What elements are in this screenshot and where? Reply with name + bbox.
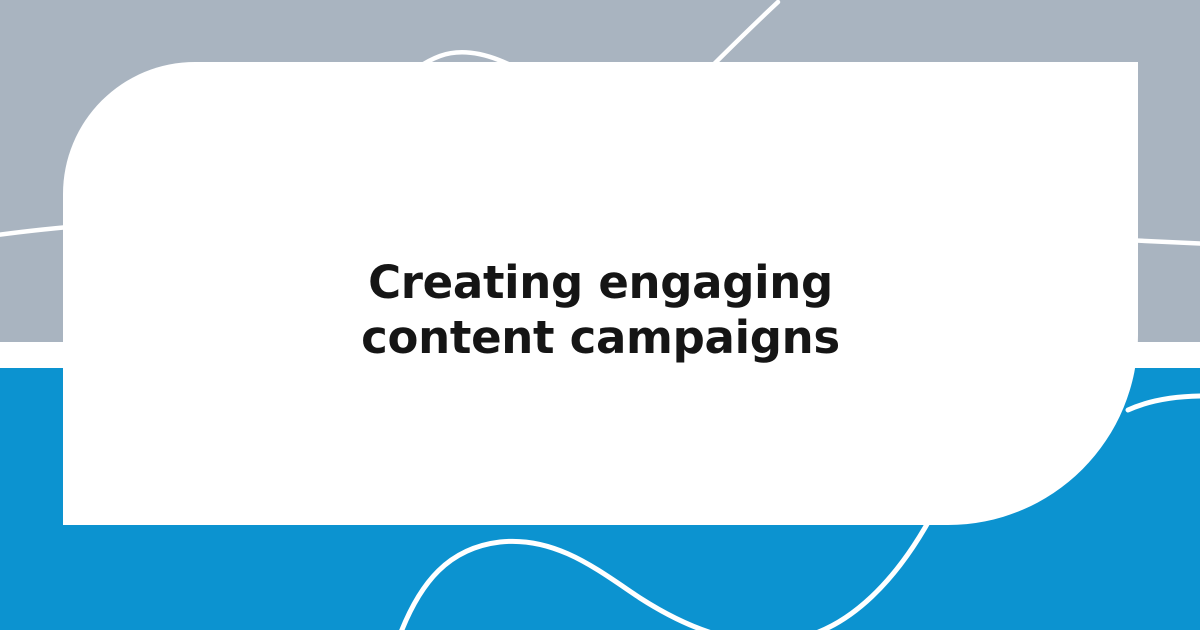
social-share-banner: Creating engaging content campaigns: [0, 0, 1200, 630]
page-title: Creating engaging content campaigns: [281, 255, 921, 365]
title-block: Creating engaging content campaigns: [63, 255, 1138, 365]
